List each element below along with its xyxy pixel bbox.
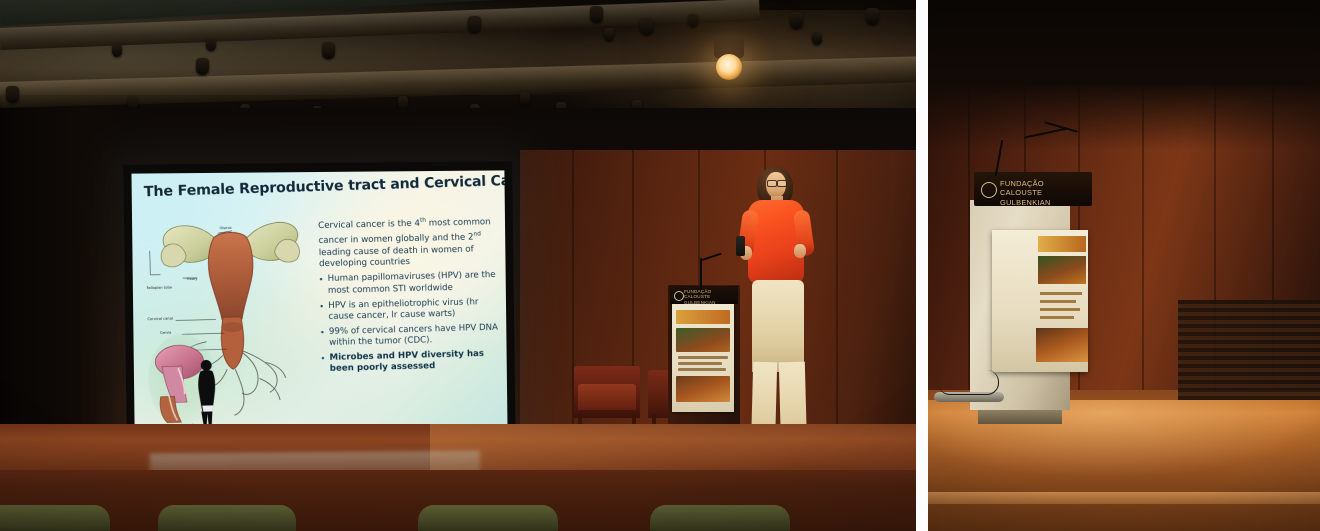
panel-divider [916,0,928,531]
audience-seat-row [0,506,916,531]
lead-sup-2nd: nd [473,231,481,238]
podium-poster [672,304,734,412]
bullet-glyph-icon: • [319,274,323,297]
slide-lead-paragraph: Cervical cancer is the 4th most common c… [318,213,498,270]
svg-text:Uterus: Uterus [220,226,232,230]
right-brand-line2: CALOUSTE GULBENKIAN [1000,188,1092,207]
podium-brand-plate: FUNDAÇÃO CALOUSTE GULBENKIAN [670,286,738,304]
right-brand-line1: FUNDAÇÃO [1000,179,1092,188]
left-shadow-area [0,108,130,438]
slide-body-text: Cervical cancer is the 4th most common c… [318,213,501,379]
right-podium-poster [992,230,1088,372]
bullet-text: Human papillomaviruses (HPV) are the mos… [327,270,498,297]
right-dark-ceiling [928,0,1320,150]
bullet-text: Microbes and HPV diversity has been poor… [329,348,500,375]
slide-bullet: • HPV is an epitheliotrophic virus (hr c… [320,296,500,323]
single-lit-spotlight [716,54,742,80]
photo-pair-canvas: The Female Reproductive tract and Cervic… [0,0,1320,531]
projection-screen: The Female Reproductive tract and Cervic… [123,161,515,451]
svg-text:Cervical canal: Cervical canal [147,317,173,322]
slide-bullet: • Microbes and HPV diversity has been po… [321,348,501,375]
svg-text:Fallopian tube: Fallopian tube [147,285,173,290]
slide-bullet: • 99% of cervical cancers have HPV DNA w… [321,322,501,349]
bullet-glyph-icon: • [321,327,325,350]
right-photo-panel: FUNDAÇÃO CALOUSTE GULBENKIAN [928,0,1320,531]
right-podium-brand-plate: FUNDAÇÃO CALOUSTE GULBENKIAN [974,172,1092,206]
slide-title: The Female Reproductive tract and Cervic… [144,174,484,200]
bullet-text: 99% of cervical cancers have HPV DNA wit… [329,322,500,349]
lead-part-a: Cervical cancer is the 4 [318,219,420,231]
lead-part-c: leading cause of death in women of devel… [319,244,474,269]
svg-text:Ovary: Ovary [187,277,199,281]
presentation-slide: The Female Reproductive tract and Cervic… [131,170,507,437]
bullet-text: HPV is an epitheliotrophic virus (hr cau… [328,296,499,323]
bullet-glyph-icon: • [320,301,324,324]
stage-edge [928,492,1320,504]
left-photo-panel: The Female Reproductive tract and Cervic… [0,0,916,531]
wall-grille [1178,300,1320,410]
slide-bullet: • Human papillomaviruses (HPV) are the m… [319,270,499,297]
cervix-inset-diagram: Vaginal wall [147,331,236,430]
bullet-glyph-icon: • [321,353,325,376]
remote-clicker [736,236,745,256]
